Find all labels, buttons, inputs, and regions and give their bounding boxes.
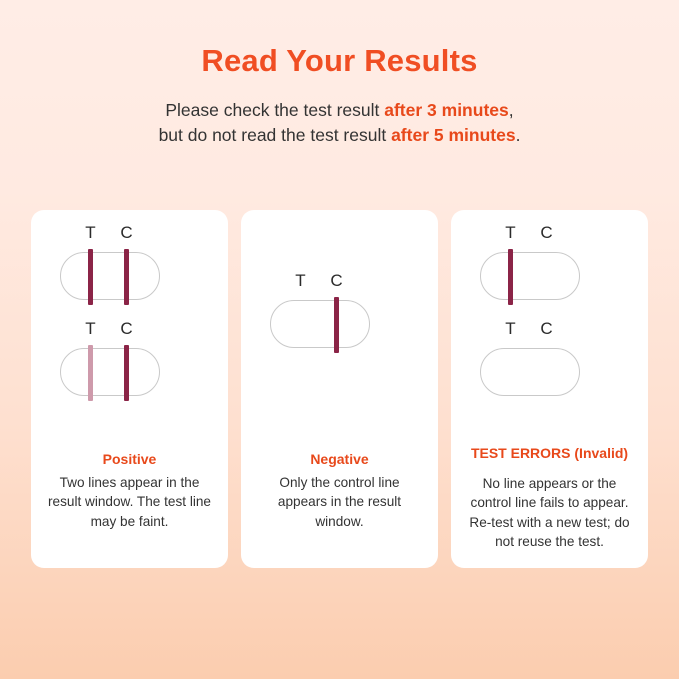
control-line-dark bbox=[334, 297, 339, 353]
result-window bbox=[480, 252, 580, 300]
subtitle-line1-highlight: after 3 minutes bbox=[384, 100, 508, 120]
result-window bbox=[60, 252, 160, 300]
test-window-positive-faint: T C bbox=[60, 320, 200, 396]
caption-body: Two lines appear in the result window. T… bbox=[43, 473, 216, 531]
subtitle-line2-highlight: after 5 minutes bbox=[391, 125, 515, 145]
test-line-label: T bbox=[505, 224, 515, 241]
caption-body: Only the control line appears in the res… bbox=[253, 473, 426, 531]
control-line-dark bbox=[124, 249, 129, 305]
result-card-test-errors: T C T C TEST ERRORS (Invalid) No line ap… bbox=[451, 210, 648, 568]
caption-title: TEST ERRORS (Invalid) bbox=[463, 444, 636, 462]
control-line-label: C bbox=[120, 320, 132, 337]
window-labels: T C bbox=[480, 224, 620, 246]
page-subtitle: Please check the test result after 3 min… bbox=[0, 98, 679, 148]
test-window-positive-strong: T C bbox=[60, 224, 200, 300]
test-line-label: T bbox=[85, 320, 95, 337]
strip-illustration-positive: T C T C bbox=[31, 210, 228, 438]
window-labels: T C bbox=[60, 224, 200, 246]
test-line-faint bbox=[88, 345, 93, 401]
result-window bbox=[480, 348, 580, 396]
card-caption-test-errors: TEST ERRORS (Invalid) No line appears or… bbox=[451, 444, 648, 551]
test-window-negative: T C bbox=[270, 272, 410, 348]
window-labels: T C bbox=[60, 320, 200, 342]
card-caption-positive: Positive Two lines appear in the result … bbox=[31, 450, 228, 531]
control-line-dark bbox=[124, 345, 129, 401]
control-line-label: C bbox=[540, 320, 552, 337]
strip-illustration-test-errors: T C T C bbox=[451, 210, 648, 438]
caption-body: No line appears or the control line fail… bbox=[463, 474, 636, 551]
subtitle-line1-suffix: , bbox=[509, 100, 514, 120]
test-line-dark bbox=[508, 249, 513, 305]
page-header: Read Your Results Please check the test … bbox=[0, 0, 679, 148]
control-line-label: C bbox=[540, 224, 552, 241]
result-card-positive: T C T C Positive T bbox=[31, 210, 228, 568]
test-line-label: T bbox=[505, 320, 515, 337]
caption-title: Negative bbox=[253, 450, 426, 468]
result-card-negative: T C Negative Only the control line appea… bbox=[241, 210, 438, 568]
test-line-dark bbox=[88, 249, 93, 305]
control-line-label: C bbox=[120, 224, 132, 241]
test-line-label: T bbox=[295, 272, 305, 289]
page-title: Read Your Results bbox=[0, 44, 679, 78]
control-line-label: C bbox=[330, 272, 342, 289]
window-labels: T C bbox=[270, 272, 410, 294]
test-window-invalid-blank: T C bbox=[480, 320, 620, 396]
test-window-invalid-test-only: T C bbox=[480, 224, 620, 300]
result-window bbox=[60, 348, 160, 396]
test-line-label: T bbox=[85, 224, 95, 241]
results-card-row: T C T C Positive T bbox=[31, 210, 648, 568]
caption-title: Positive bbox=[43, 450, 216, 468]
subtitle-line2-prefix: but do not read the test result bbox=[159, 125, 392, 145]
subtitle-line2-suffix: . bbox=[516, 125, 521, 145]
subtitle-line1-prefix: Please check the test result bbox=[165, 100, 384, 120]
strip-illustration-negative: T C bbox=[241, 210, 438, 438]
card-caption-negative: Negative Only the control line appears i… bbox=[241, 450, 438, 531]
result-window bbox=[270, 300, 370, 348]
window-labels: T C bbox=[480, 320, 620, 342]
